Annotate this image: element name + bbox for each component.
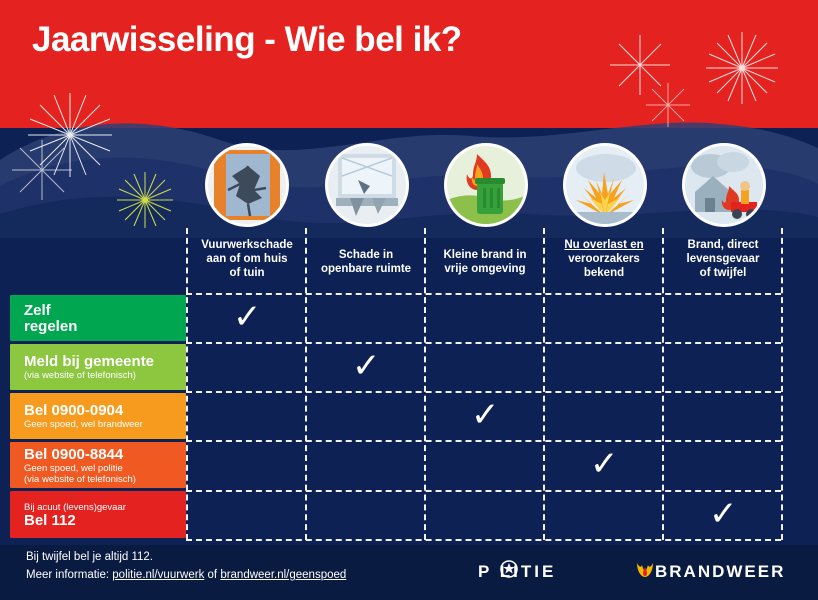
- politie-emblem-icon: [500, 560, 518, 578]
- row-label-bel-112-title: Bel 112: [24, 513, 176, 529]
- column-header-1: Vuurwerkschade aan of om huis of tuin: [191, 238, 303, 280]
- checkmark-row-3: ✓: [471, 398, 500, 432]
- grid-hline-1: [186, 342, 781, 344]
- footer-more-info-label: Meer informatie:: [26, 569, 112, 581]
- grid-vline-5: [781, 228, 783, 540]
- column-header-3-line-2: vrije omgeving: [444, 263, 525, 275]
- row-label-zelf-regelen[interactable]: Zelf regelen: [10, 295, 186, 341]
- column-header-2-line-1: Schade in: [339, 249, 393, 261]
- grid-vline-1: [305, 228, 307, 540]
- fireworks-nuisance-icon: [563, 143, 647, 227]
- column-header-5-line-2: levensgevaar: [687, 253, 760, 265]
- column-header-1-line-3: of tuin: [229, 267, 264, 279]
- grid-hline-2: [186, 391, 781, 393]
- footer-conjunction: of: [204, 569, 220, 581]
- column-header-4-line-2: veroorzakers: [568, 253, 640, 265]
- link-brandweer-geenspoed[interactable]: brandweer.nl/geenspoed: [220, 569, 346, 581]
- column-header-4-line-3: bekend: [584, 267, 624, 279]
- column-header-5-line-3: of twijfel: [700, 267, 747, 279]
- grid-vline-3: [543, 228, 545, 540]
- brandweer-logo: BRANDWEER: [655, 562, 785, 582]
- footer-line-2: Meer informatie: politie.nl/vuurwerk of …: [26, 569, 346, 581]
- row-label-bel-112-sub: Bij acuut (levens)gevaar: [24, 502, 176, 513]
- row-label-bel-0900-8844-title: Bel 0900-8844: [24, 447, 176, 463]
- column-header-2: Schade in openbare ruimte: [310, 248, 422, 276]
- row-label-bel-0900-8844[interactable]: Bel 0900-8844 Geen spoed, wel politie (v…: [10, 442, 186, 488]
- infographic-canvas: Jaarwisseling - Wie bel ik?: [0, 0, 818, 600]
- column-header-5-line-1: Brand, direct: [688, 239, 759, 251]
- checkmark-row-4: ✓: [590, 447, 619, 481]
- row-label-bel-0900-0904[interactable]: Bel 0900-0904 Geen spoed, wel brandweer: [10, 393, 186, 439]
- public-space-damage-icon: [325, 143, 409, 227]
- grid-vline-0: [186, 228, 188, 540]
- page-title: Jaarwisseling - Wie bel ik?: [32, 20, 462, 60]
- row-label-bel-0900-8844-sub: Geen spoed, wel politie: [24, 463, 176, 474]
- grid-vline-4: [662, 228, 664, 540]
- footer-line-1: Bij twijfel bel je altijd 112.: [26, 551, 153, 563]
- burning-trashcan-icon: [444, 143, 528, 227]
- grid-hline-4: [186, 490, 781, 492]
- row-label-meld-bij-gemeente[interactable]: Meld bij gemeente (via website of telefo…: [10, 344, 186, 390]
- link-politie-vuurwerk[interactable]: politie.nl/vuurwerk: [112, 569, 204, 581]
- column-header-5: Brand, direct levensgevaar of twijfel: [667, 238, 779, 280]
- row-label-bel-0900-0904-title: Bel 0900-0904: [24, 403, 176, 419]
- checkmark-row-5: ✓: [709, 497, 738, 531]
- row-label-zelf-regelen-line-1: Zelf: [24, 303, 176, 319]
- brandweer-emblem-icon: [634, 558, 656, 580]
- row-label-bel-0900-0904-sub: Geen spoed, wel brandweer: [24, 419, 176, 430]
- column-header-1-line-2: aan of om huis: [206, 253, 287, 265]
- column-header-2-line-2: openbare ruimte: [321, 263, 411, 275]
- grid-vline-2: [424, 228, 426, 540]
- checkmark-row-2: ✓: [352, 349, 381, 383]
- column-header-4-line-1: Nu overlast en: [564, 239, 643, 251]
- grid-hline-3: [186, 440, 781, 442]
- grid-hline-5: [186, 539, 781, 541]
- column-header-1-line-1: Vuurwerkschade: [201, 239, 293, 251]
- column-header-3: Kleine brand in vrije omgeving: [429, 248, 541, 276]
- column-header-3-line-1: Kleine brand in: [443, 249, 526, 261]
- row-label-meld-bij-gemeente-sub: (via website of telefonisch): [24, 370, 176, 381]
- row-label-meld-bij-gemeente-title: Meld bij gemeente: [24, 354, 176, 370]
- row-label-bel-0900-8844-sub2: (via website of telefonisch): [24, 474, 176, 485]
- grid-hline-0: [186, 293, 781, 295]
- row-label-zelf-regelen-line-2: regelen: [24, 319, 176, 335]
- checkmark-row-1: ✓: [233, 300, 262, 334]
- house-fire-icon: [682, 143, 766, 227]
- row-label-bel-112[interactable]: Bij acuut (levens)gevaar Bel 112: [10, 491, 186, 538]
- broken-window-icon: [205, 143, 289, 227]
- column-header-4: Nu overlast en veroorzakers bekend: [548, 238, 660, 280]
